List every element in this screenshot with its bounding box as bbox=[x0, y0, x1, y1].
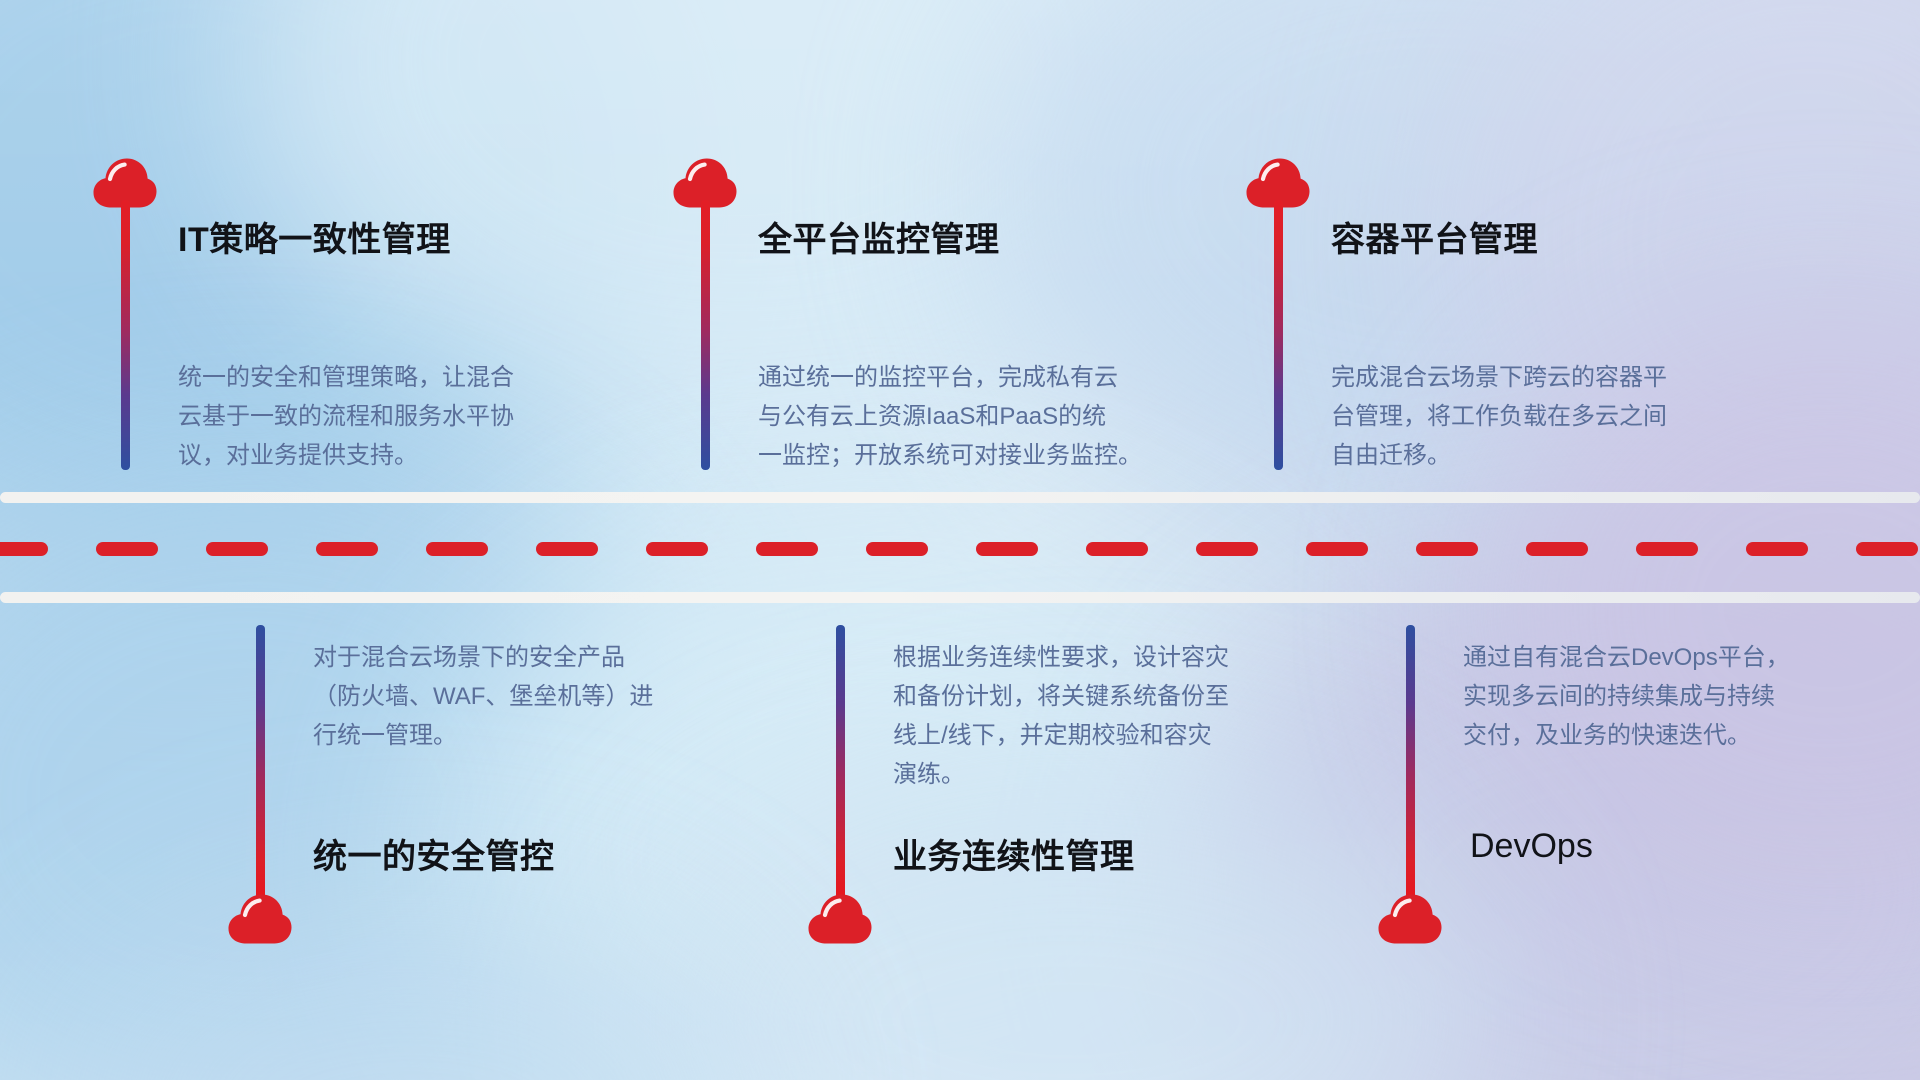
divider-dash bbox=[0, 542, 48, 556]
description-line: 实现多云间的持续集成与持续 bbox=[1463, 677, 1790, 716]
description-line: 线上/线下，并定期校验和容灾 bbox=[893, 716, 1229, 755]
description-line: 与公有云上资源IaaS和PaaS的统 bbox=[758, 397, 1142, 436]
divider-dash bbox=[1306, 542, 1368, 556]
description-line: 演练。 bbox=[893, 755, 1229, 794]
cloud-icon bbox=[1377, 893, 1443, 945]
description-line: 行统一管理。 bbox=[313, 716, 653, 755]
description-line: 完成混合云场景下跨云的容器平 bbox=[1331, 358, 1667, 397]
description-line: （防火墙、WAF、堡垒机等）进 bbox=[313, 677, 653, 716]
infographic-canvas: IT策略一致性管理 统一的安全和管理策略，让混合 云基于一致的流程和服务水平协 … bbox=[0, 0, 1920, 1080]
pin-description: 完成混合云场景下跨云的容器平 台管理，将工作负载在多云之间 自由迁移。 bbox=[1331, 358, 1667, 475]
pin-heading: DevOps bbox=[1470, 827, 1593, 866]
divider-dash bbox=[316, 542, 378, 556]
pin-stem bbox=[701, 200, 710, 470]
description-line: 云基于一致的流程和服务水平协 bbox=[178, 397, 514, 436]
pin-heading: 全平台监控管理 bbox=[758, 212, 1000, 261]
divider-dash bbox=[536, 542, 598, 556]
divider-dash bbox=[1526, 542, 1588, 556]
pin-heading: 容器平台管理 bbox=[1331, 212, 1538, 261]
pin-description: 对于混合云场景下的安全产品 （防火墙、WAF、堡垒机等）进 行统一管理。 bbox=[313, 638, 653, 755]
pin-stem bbox=[121, 200, 130, 470]
divider-dash bbox=[756, 542, 818, 556]
pin-stem bbox=[836, 625, 845, 905]
cloud-icon bbox=[807, 893, 873, 945]
pin-heading: 业务连续性管理 bbox=[893, 829, 1135, 878]
divider-rule-bottom bbox=[0, 592, 1920, 603]
divider-dash bbox=[866, 542, 928, 556]
divider-dashed-line bbox=[0, 542, 1920, 556]
divider-rule-top bbox=[0, 492, 1920, 503]
divider-dash bbox=[1416, 542, 1478, 556]
description-line: 根据业务连续性要求，设计容灾 bbox=[893, 638, 1229, 677]
divider-dash bbox=[1636, 542, 1698, 556]
description-line: 通过统一的监控平台，完成私有云 bbox=[758, 358, 1142, 397]
divider-dash bbox=[206, 542, 268, 556]
description-line: 通过自有混合云DevOps平台， bbox=[1463, 638, 1790, 677]
pin-description: 根据业务连续性要求，设计容灾 和备份计划，将关键系统备份至 线上/线下，并定期校… bbox=[893, 638, 1229, 794]
divider-dash bbox=[1746, 542, 1808, 556]
pin-description: 统一的安全和管理策略，让混合 云基于一致的流程和服务水平协 议，对业务提供支持。 bbox=[178, 358, 514, 475]
description-line: 台管理，将工作负载在多云之间 bbox=[1331, 397, 1667, 436]
description-line: 统一的安全和管理策略，让混合 bbox=[178, 358, 514, 397]
description-line: 一监控；开放系统可对接业务监控。 bbox=[758, 436, 1142, 475]
cloud-icon bbox=[227, 893, 293, 945]
divider-dash bbox=[1856, 542, 1918, 556]
divider-dash bbox=[1086, 542, 1148, 556]
pin-heading: IT策略一致性管理 bbox=[178, 212, 451, 261]
description-line: 对于混合云场景下的安全产品 bbox=[313, 638, 653, 677]
divider-dash bbox=[426, 542, 488, 556]
divider-dash bbox=[646, 542, 708, 556]
divider-dash bbox=[96, 542, 158, 556]
divider-dash bbox=[1196, 542, 1258, 556]
pin-heading: 统一的安全管控 bbox=[313, 829, 555, 878]
pin-description: 通过统一的监控平台，完成私有云 与公有云上资源IaaS和PaaS的统 一监控；开… bbox=[758, 358, 1142, 475]
description-line: 议，对业务提供支持。 bbox=[178, 436, 514, 475]
description-line: 交付，及业务的快速迭代。 bbox=[1463, 716, 1790, 755]
pin-stem bbox=[1274, 200, 1283, 470]
pin-stem bbox=[1406, 625, 1415, 905]
description-line: 自由迁移。 bbox=[1331, 436, 1667, 475]
pin-description: 通过自有混合云DevOps平台， 实现多云间的持续集成与持续 交付，及业务的快速… bbox=[1463, 638, 1790, 755]
pin-stem bbox=[256, 625, 265, 905]
divider-dash bbox=[976, 542, 1038, 556]
description-line: 和备份计划，将关键系统备份至 bbox=[893, 677, 1229, 716]
